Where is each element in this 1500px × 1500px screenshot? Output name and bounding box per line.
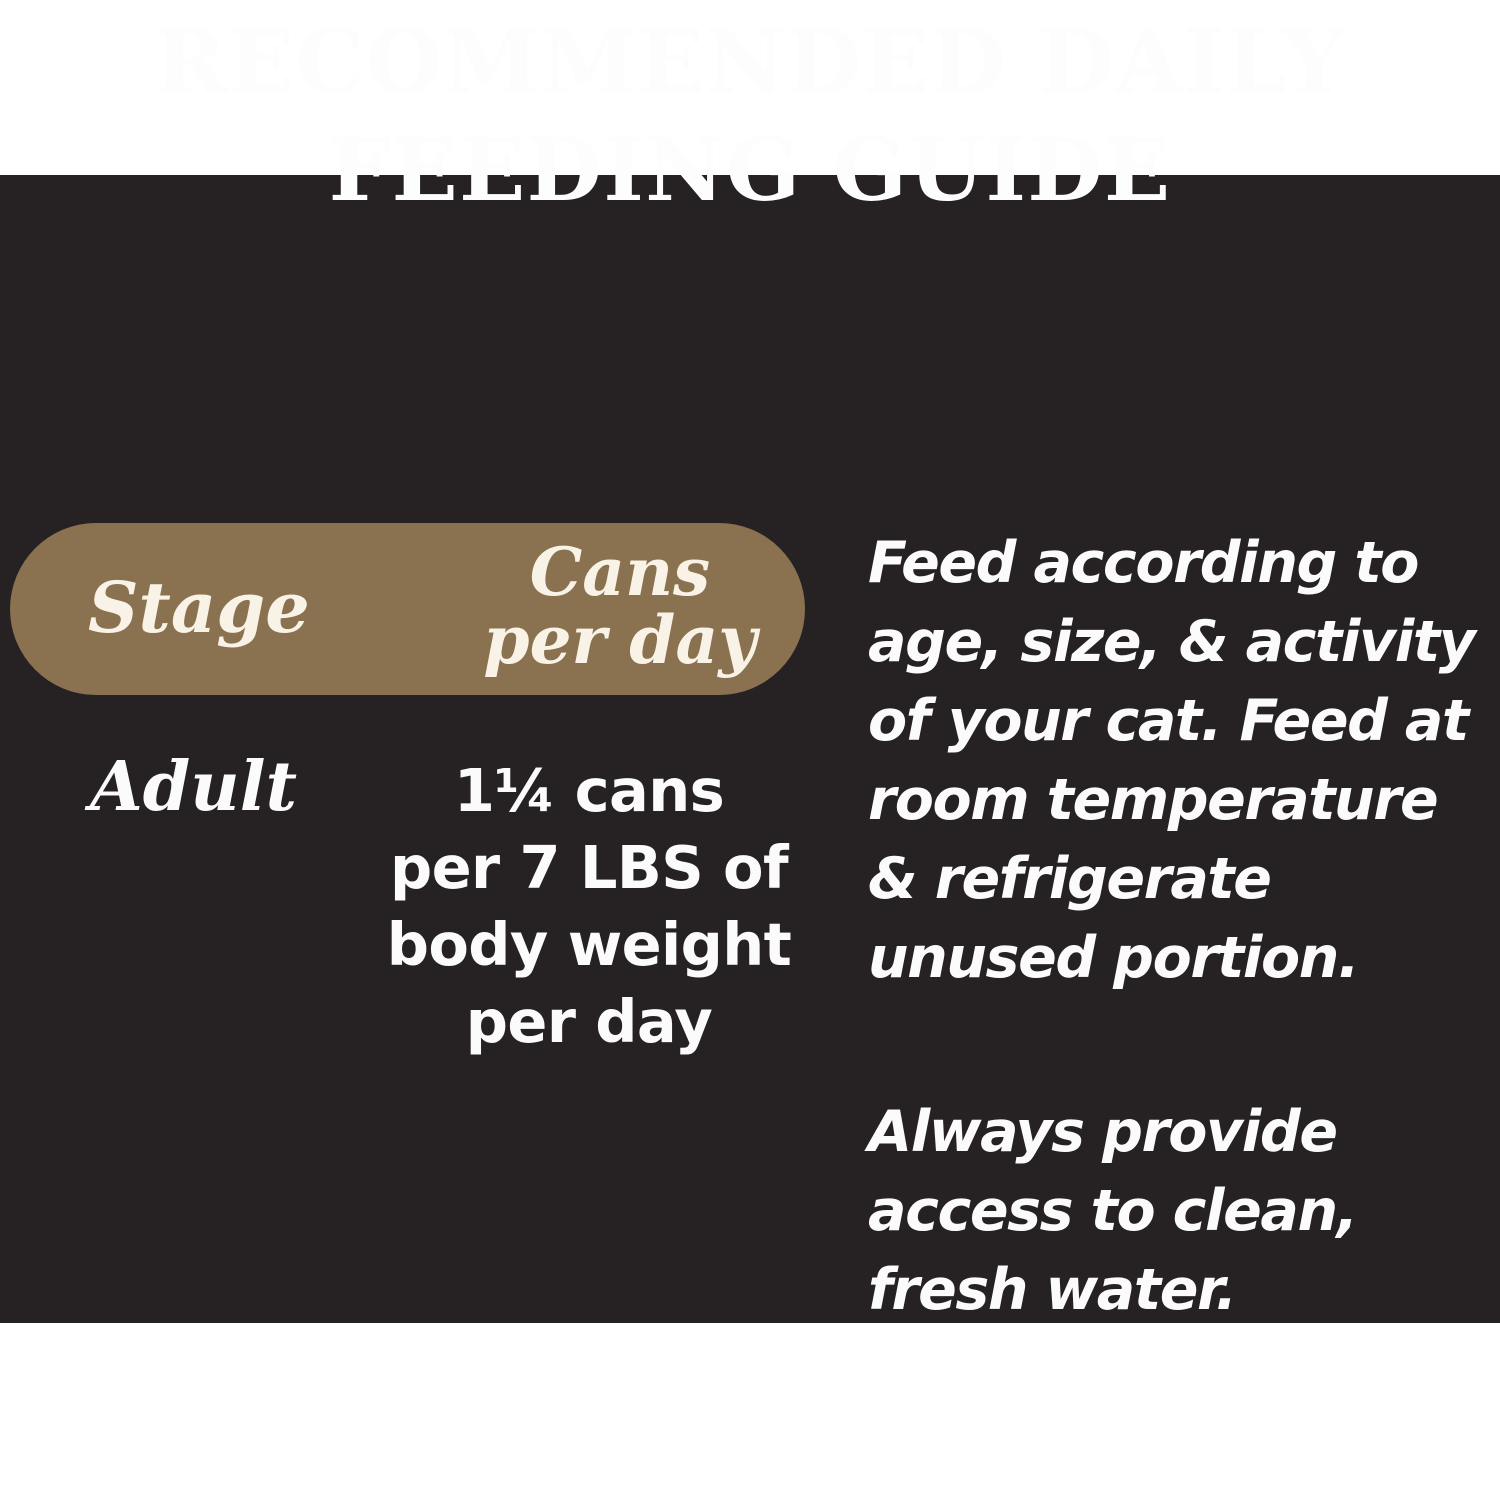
table-row-amount-line-2: per 7 LBS of [350,829,828,906]
feeding-note-1-line-3: of your cat. Feed at [868,682,1500,761]
feeding-note-1-line-4: room temperature [868,761,1500,840]
feeding-note-1-line-1: Feed according to [868,524,1500,603]
table-header-cans-per-day-line-1: Cans [400,538,840,606]
feeding-note-2-line-3: fresh water. [868,1251,1500,1330]
feeding-note-1-line-2: age, size, & activity [868,603,1500,682]
table-row-amount-line-4: per day [350,983,828,1060]
table-row-stage-adult: Adult [90,748,380,826]
feeding-note-1-line-6: unused portion. [868,919,1500,998]
feeding-note-1-line-5: & refrigerate [868,840,1500,919]
feeding-guide-canvas: RECOMMENDED DAILY FEEDING GUIDE Stage Ca… [0,0,1500,1500]
feeding-notes: Feed according to age, size, & activity … [868,0,1500,1500]
table-row-amount-adult: 1¼ cans per 7 LBS of body weight per day [350,752,828,1060]
table-header-cans-per-day: Cans per day [400,538,840,674]
feeding-note-2-line-1: Always provide [868,1093,1500,1172]
feeding-table: Stage Cans per day Adult 1¼ cans per 7 L… [0,0,830,1500]
table-header-cans-per-day-line-2: per day [400,606,840,674]
feeding-note-2-line-2: access to clean, [868,1172,1500,1251]
feeding-note-2: Always provide access to clean, fresh wa… [868,1093,1500,1330]
feeding-note-1: Feed according to age, size, & activity … [868,524,1500,998]
table-row-amount-line-1: 1¼ cans [350,752,828,829]
table-row-amount-line-3: body weight [350,906,828,983]
table-header-stage: Stage [88,568,368,648]
